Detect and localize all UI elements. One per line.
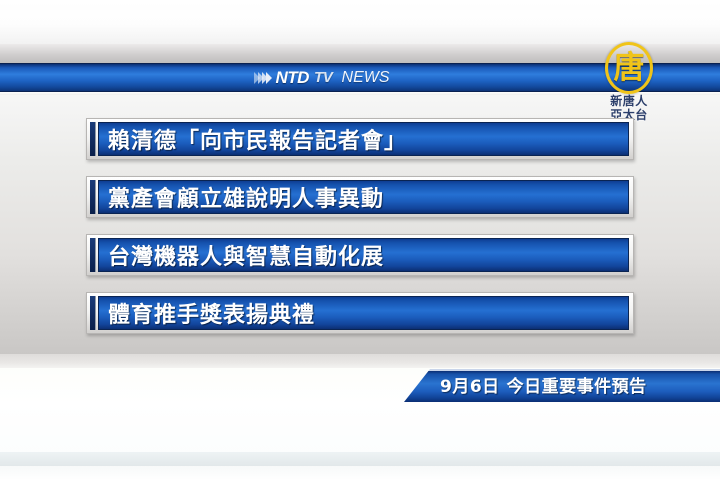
- chevron-right-icon: [254, 72, 270, 84]
- emblem-ring-icon: 唐: [605, 42, 653, 94]
- headline-bar: 黨產會顧立雄說明人事異動: [98, 180, 629, 214]
- channel-logo: NTD TV NEWS: [254, 68, 389, 88]
- headline-accent-tab: [90, 122, 96, 156]
- headline-bar: 台灣機器人與智慧自動化展: [98, 238, 629, 272]
- lower-third-banner: 9月6日 今日重要事件預告: [404, 369, 720, 400]
- headline-accent-tab: [90, 238, 96, 272]
- background-band-lower-gray: [0, 354, 720, 368]
- channel-brand-primary: NTD: [275, 68, 308, 88]
- headline-text: 體育推手獎表揚典禮: [99, 297, 315, 329]
- broadcast-screen: NTD TV NEWS 唐 新唐人 亞太台 賴清德「向市民報告記者會」 黨產會顧…: [0, 0, 720, 480]
- background-band-bottom-edge: [0, 466, 720, 480]
- headline-accent-tab: [90, 296, 96, 330]
- station-emblem: 唐 新唐人 亞太台: [598, 42, 660, 122]
- headline-bar: 賴清德「向市民報告記者會」: [98, 122, 629, 156]
- headline-text: 賴清德「向市民報告記者會」: [99, 123, 407, 155]
- headline-accent-tab: [90, 180, 96, 214]
- headline-item: 體育推手獎表揚典禮: [86, 292, 634, 334]
- emblem-character: 唐: [614, 53, 645, 84]
- lower-third-date: 9月6日: [440, 372, 500, 397]
- channel-brand-tertiary: NEWS: [342, 69, 390, 87]
- station-name-line-1: 新唐人: [598, 95, 660, 108]
- lower-third-title: 今日重要事件預告: [507, 372, 647, 397]
- headline-text: 黨產會顧立雄說明人事異動: [99, 181, 384, 213]
- headline-item: 黨產會顧立雄說明人事異動: [86, 176, 634, 218]
- headline-item: 台灣機器人與智慧自動化展: [86, 234, 634, 276]
- background-band-top: [0, 0, 720, 44]
- channel-brand-secondary: TV: [314, 69, 333, 86]
- headline-text: 台灣機器人與智慧自動化展: [99, 239, 384, 271]
- headline-item: 賴清德「向市民報告記者會」: [86, 118, 634, 160]
- headline-bar: 體育推手獎表揚典禮: [98, 296, 629, 330]
- lower-third-content: 9月6日 今日重要事件預告: [440, 369, 647, 400]
